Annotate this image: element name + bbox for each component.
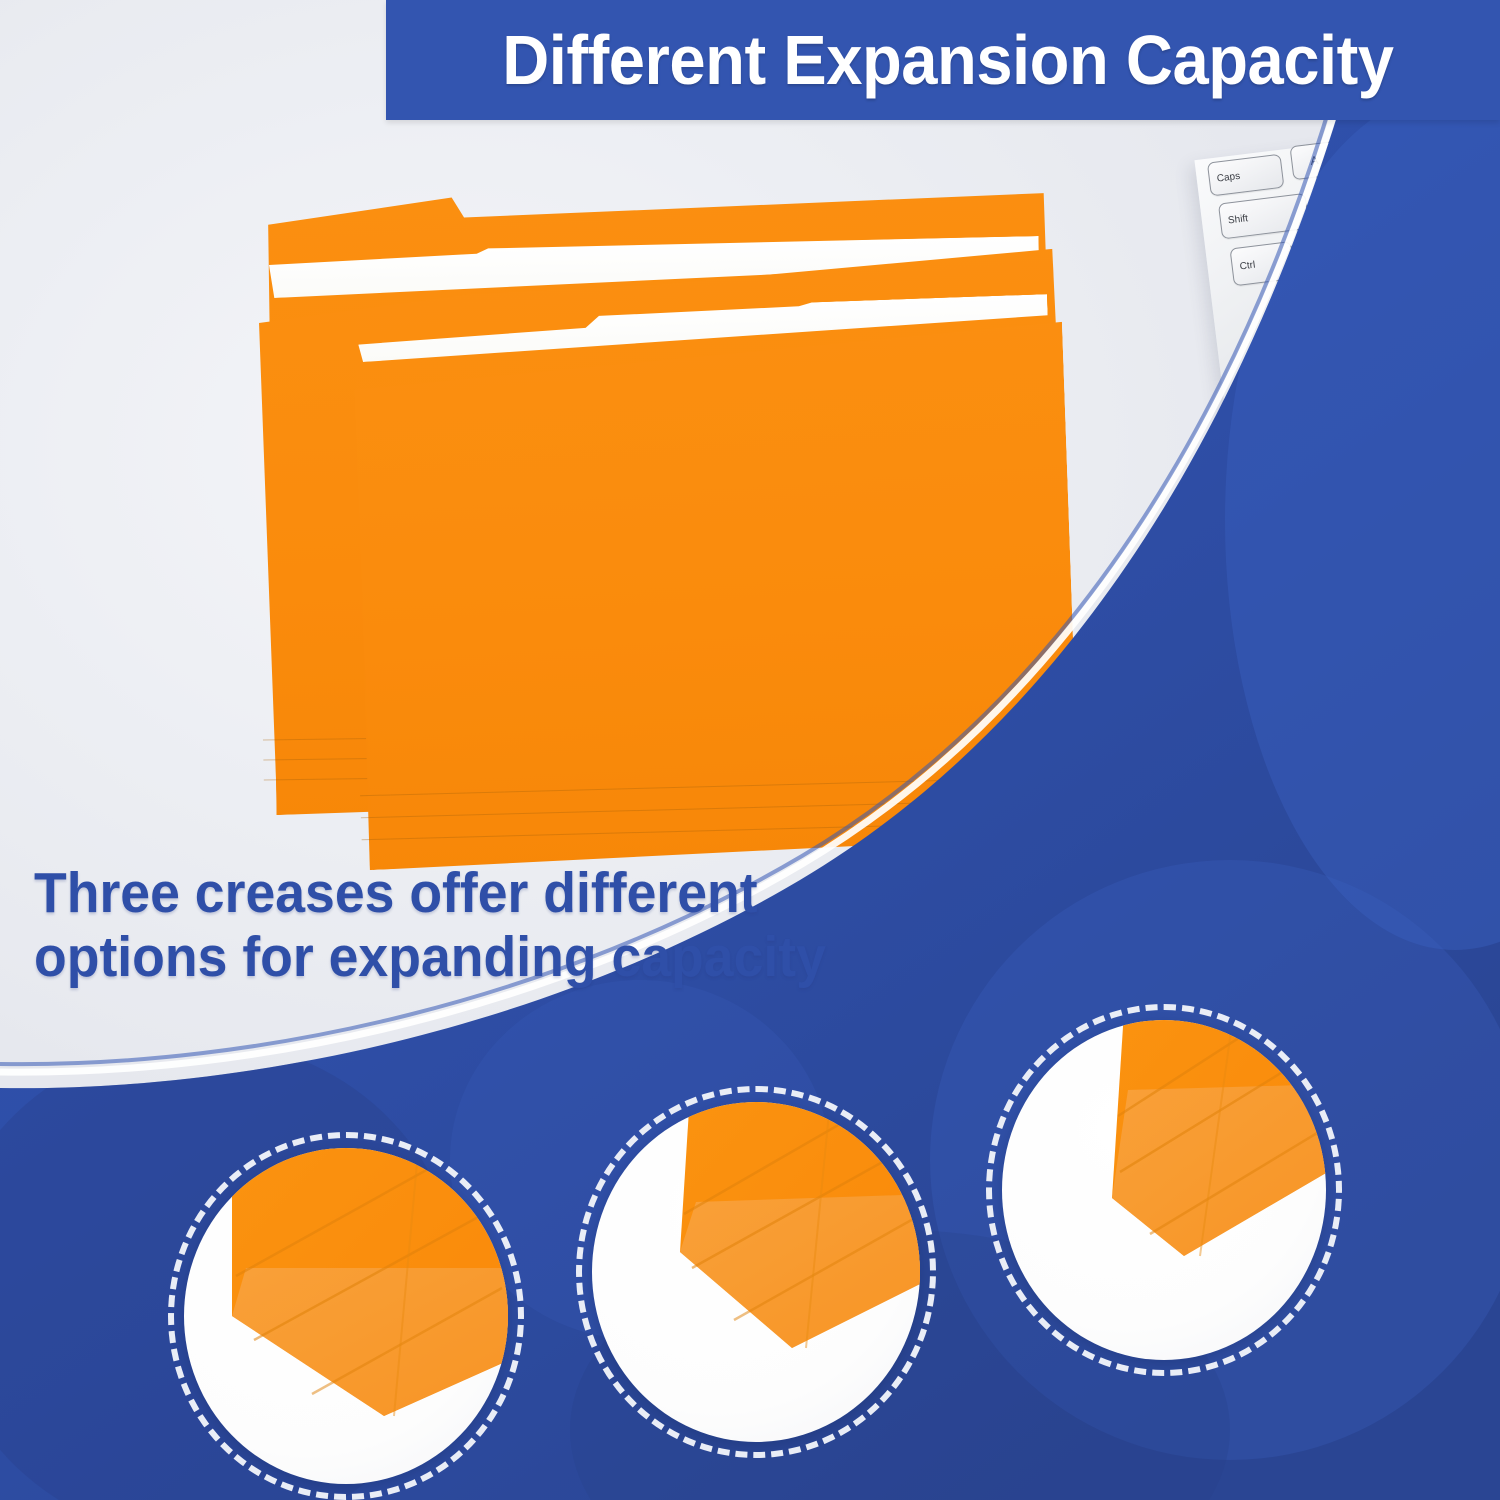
folder-front-front-panel	[344, 318, 1080, 871]
key-c: C	[1427, 150, 1479, 192]
key-x: X	[1371, 164, 1423, 206]
feature-circle-1-dash-ring	[168, 1132, 524, 1500]
product-feature-image: Caps A Shift Z X C Ctrl Alt	[0, 0, 1500, 1500]
key-a: A	[1290, 141, 1340, 180]
tape-roll-right	[1283, 488, 1385, 582]
key-ctrl: Ctrl	[1229, 241, 1295, 286]
key-alt: Alt	[1413, 199, 1467, 243]
tagline: Three creases offer different options fo…	[34, 862, 880, 990]
key-s	[1342, 128, 1392, 167]
key-d	[1395, 116, 1445, 155]
tape-core	[1310, 513, 1358, 557]
tagline-line-1: Three creases offer different	[34, 862, 880, 926]
trackpad	[1374, 308, 1500, 490]
banner-title: Different Expansion Capacity	[493, 25, 1394, 95]
key-win	[1356, 213, 1410, 257]
feature-circle-3-dash-ring	[986, 1004, 1342, 1376]
key-z: Z	[1315, 178, 1367, 220]
header-banner: Different Expansion Capacity	[386, 0, 1500, 120]
laptop: Caps A Shift Z X C Ctrl Alt	[1194, 120, 1500, 527]
feature-circle-3	[986, 1004, 1342, 1376]
key-fn	[1299, 227, 1353, 271]
tagline-line-2: options for expanding capacity	[34, 926, 880, 990]
file-folder-front	[342, 246, 1081, 871]
feature-circle-2-dash-ring	[576, 1086, 936, 1458]
feature-circle-2	[576, 1086, 936, 1458]
feature-circle-1	[168, 1132, 524, 1500]
